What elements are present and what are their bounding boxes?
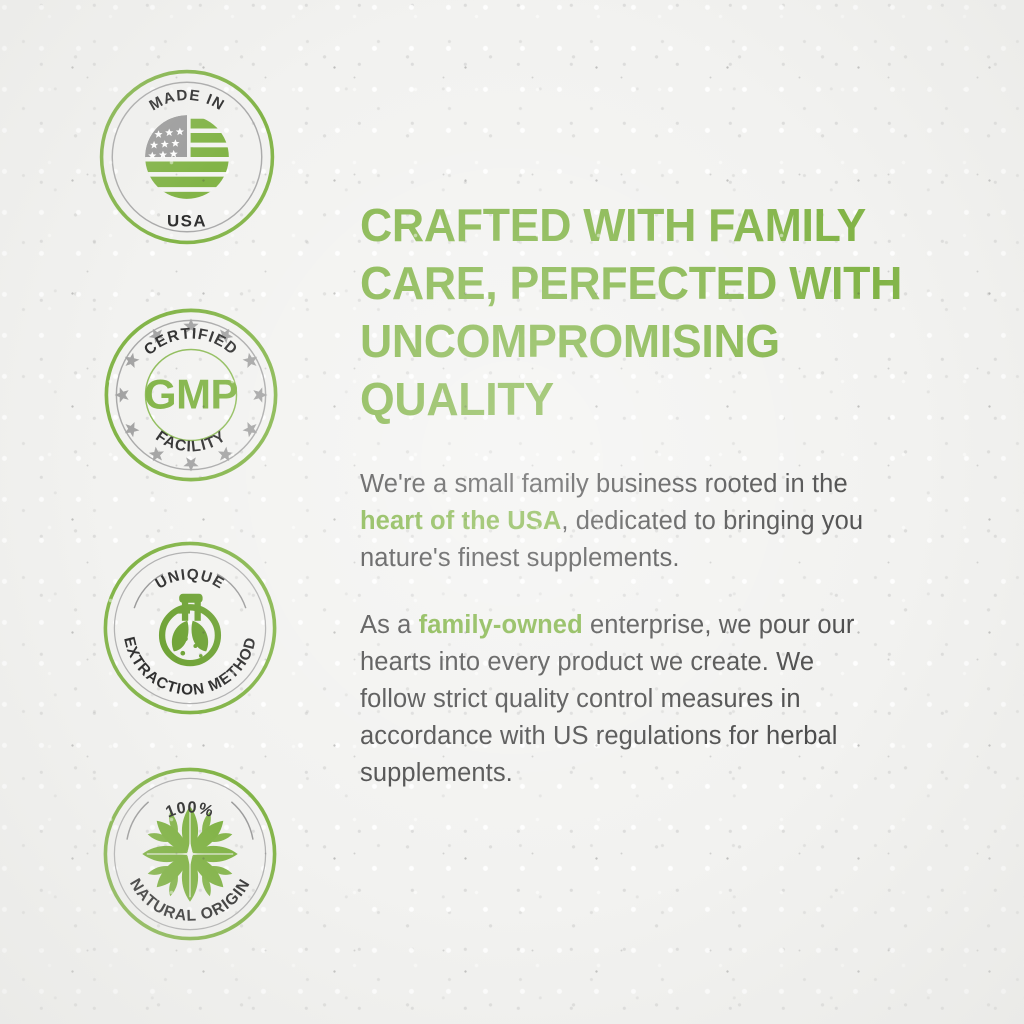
paragraph-1: We're a small family business rooted in … (360, 466, 880, 577)
leaf-rosette-icon (142, 806, 237, 901)
promo-panel: MADE IN USA (0, 0, 1024, 1024)
text-column: CRAFTED WITH FAMILY CARE, PERFECTED WITH… (360, 196, 920, 792)
highlighted-phrase: heart of the USA (360, 507, 561, 535)
flask-with-leaves-icon (162, 594, 218, 663)
svg-text:UNIQUE: UNIQUE (153, 566, 228, 593)
gmp-certified-facility-badge: CERTIFIED FACILITY GMP (100, 304, 282, 486)
gmp-text-icon: GMP (144, 371, 238, 418)
unique-extraction-method-badge: UNIQUE EXTRACTION METHOD (100, 538, 280, 718)
usa-flag-shield-icon (139, 115, 237, 208)
svg-text:FACILITY: FACILITY (152, 428, 229, 456)
svg-text:CERTIFIED: CERTIFIED (141, 325, 241, 358)
made-in-usa-badge: MADE IN USA (98, 68, 276, 246)
highlighted-phrase: family-owned (419, 611, 583, 639)
made-in-usa-bottom-text: USA (167, 211, 207, 230)
paragraph-2: As a family-owned enterprise, we pour ou… (360, 607, 880, 792)
natural-origin-badge: 100% NATURAL ORIGIN (100, 764, 280, 944)
text-run: As a (360, 611, 419, 639)
page-headline: CRAFTED WITH FAMILY CARE, PERFECTED WITH… (360, 196, 903, 428)
svg-text:EXTRACTION METHOD: EXTRACTION METHOD (120, 635, 260, 699)
body-copy: We're a small family business rooted in … (360, 466, 880, 792)
svg-text:MADE IN: MADE IN (146, 87, 227, 115)
text-run: We're a small family business rooted in … (360, 470, 848, 498)
